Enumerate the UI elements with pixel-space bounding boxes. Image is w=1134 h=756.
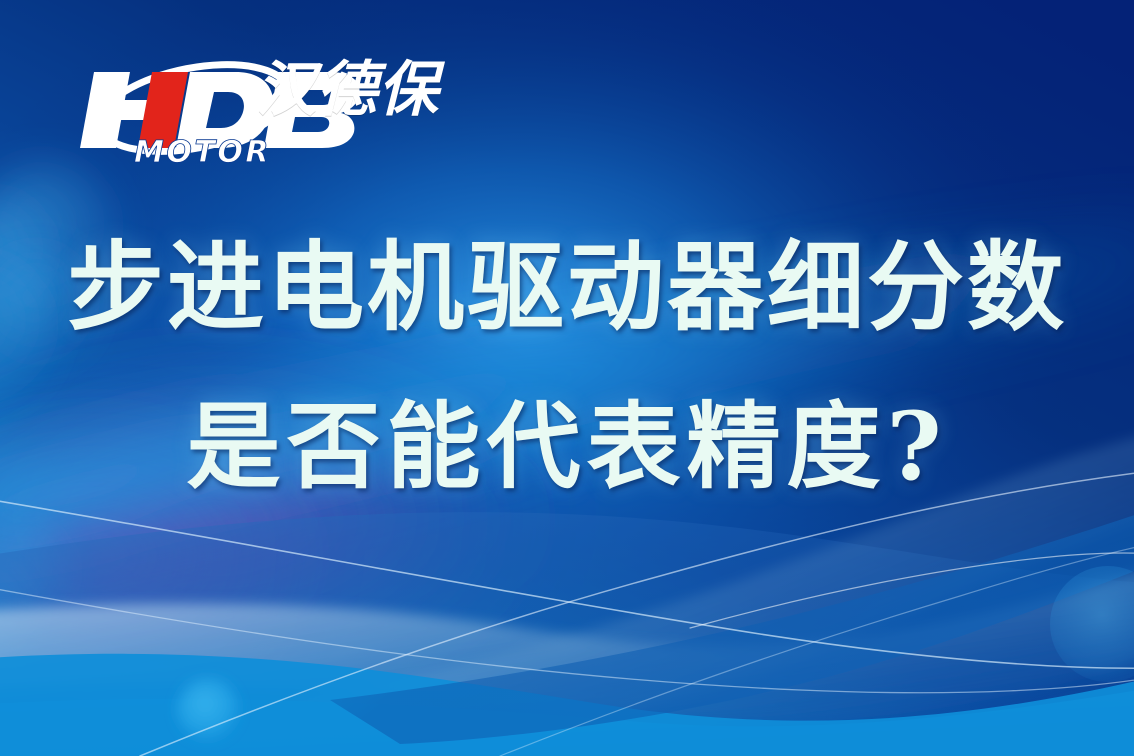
logo-motor-text: MOTOR	[134, 135, 271, 167]
headline-line-2: 是否能代表精度?	[0, 388, 1134, 506]
headline-line-1: 步进电机驱动器细分数	[0, 228, 1134, 346]
poster-canvas: MOTOR 汉德保 步进电机驱动器细分数 是否能代表精度?	[0, 0, 1134, 756]
logo-brand-cn: 汉德保	[256, 60, 439, 120]
bg-bubble-bottom	[177, 679, 239, 741]
headline-block: 步进电机驱动器细分数 是否能代表精度?	[0, 228, 1134, 506]
